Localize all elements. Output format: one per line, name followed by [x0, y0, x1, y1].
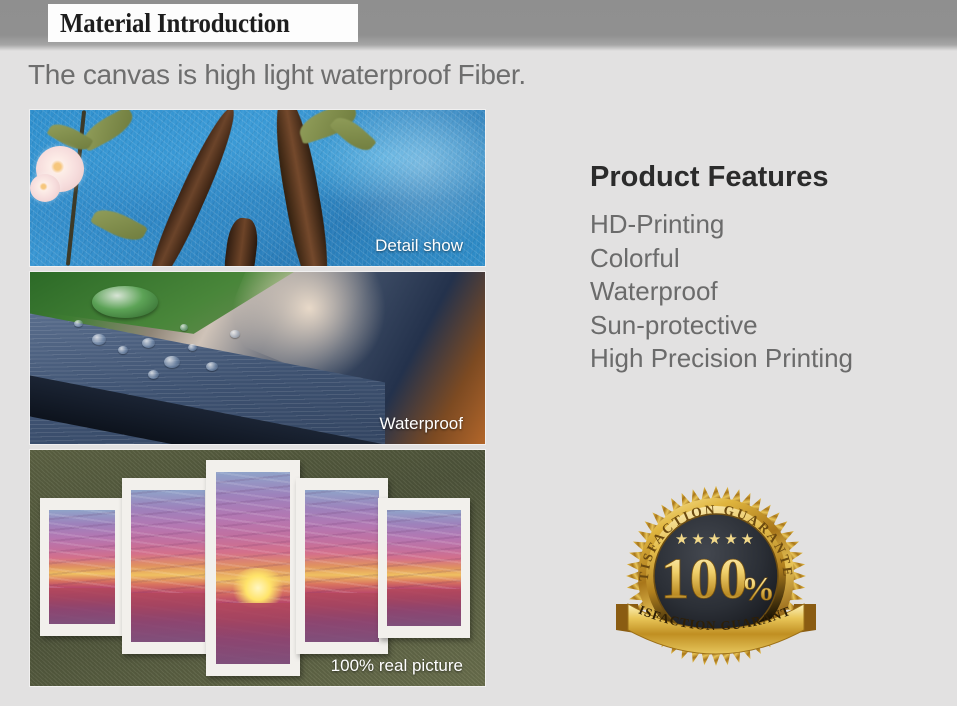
water-drop: [118, 346, 128, 354]
badge-graphic: SATISFACTION GUARANTEED ★★★★★ 100 % SATI…: [612, 478, 820, 670]
canvas-panel: [40, 498, 124, 636]
panel-sea: [49, 588, 115, 624]
satisfaction-guarantee-badge: SATISFACTION GUARANTEED ★★★★★ 100 % SATI…: [612, 478, 820, 670]
photo-waterproof: Waterproof: [30, 272, 485, 444]
feature-item: Sun-protective: [590, 309, 853, 343]
panel-artwork: [387, 510, 461, 626]
canvas-panel: [296, 478, 388, 654]
product-detail-page: Material Introduction The canvas is high…: [0, 0, 957, 706]
water-drop: [92, 334, 106, 345]
canvas-panel-center: [206, 460, 300, 676]
panel-artwork: [131, 490, 205, 642]
section-title-box: Material Introduction: [48, 4, 358, 42]
water-drop: [180, 324, 188, 331]
feature-item: HD-Printing: [590, 208, 853, 242]
feature-item: Colorful: [590, 242, 853, 276]
badge-percent-number: 100: [661, 546, 748, 611]
panel-artwork: [216, 472, 290, 664]
panel-sea: [131, 593, 205, 642]
panel-sea: [305, 593, 379, 642]
large-water-drop: [92, 286, 158, 318]
canvas-panel: [122, 478, 214, 654]
panel-artwork: [305, 490, 379, 642]
water-drop: [188, 344, 197, 351]
water-drop: [206, 362, 218, 371]
photo-caption-detail-show: Detail show: [375, 236, 463, 256]
panel-artwork: [49, 510, 115, 624]
photo-caption-real-picture: 100% real picture: [331, 656, 463, 676]
blossom-2: [30, 174, 60, 202]
feature-item: Waterproof: [590, 275, 853, 309]
water-drop: [74, 320, 83, 327]
feature-item: High Precision Printing: [590, 342, 853, 376]
header-banner-shadow: [0, 45, 957, 51]
photo-caption-waterproof: Waterproof: [380, 414, 463, 434]
subtitle-text: The canvas is high light waterproof Fibe…: [28, 59, 526, 91]
product-features-heading: Product Features: [590, 161, 829, 194]
photo-real-picture: 100% real picture: [30, 450, 485, 686]
water-drop: [142, 338, 155, 348]
photo-detail-show: Detail show: [30, 110, 485, 266]
panel-sea: [216, 603, 290, 664]
page-title: Material Introduction: [60, 8, 290, 39]
water-drop: [230, 330, 240, 338]
water-drop: [164, 356, 180, 368]
product-features-list: HD-Printing Colorful Waterproof Sun-prot…: [590, 208, 853, 376]
panel-sea: [387, 589, 461, 626]
canvas-panel: [378, 498, 470, 638]
water-drop: [148, 370, 159, 379]
badge-percent-symbol: %: [741, 571, 775, 608]
